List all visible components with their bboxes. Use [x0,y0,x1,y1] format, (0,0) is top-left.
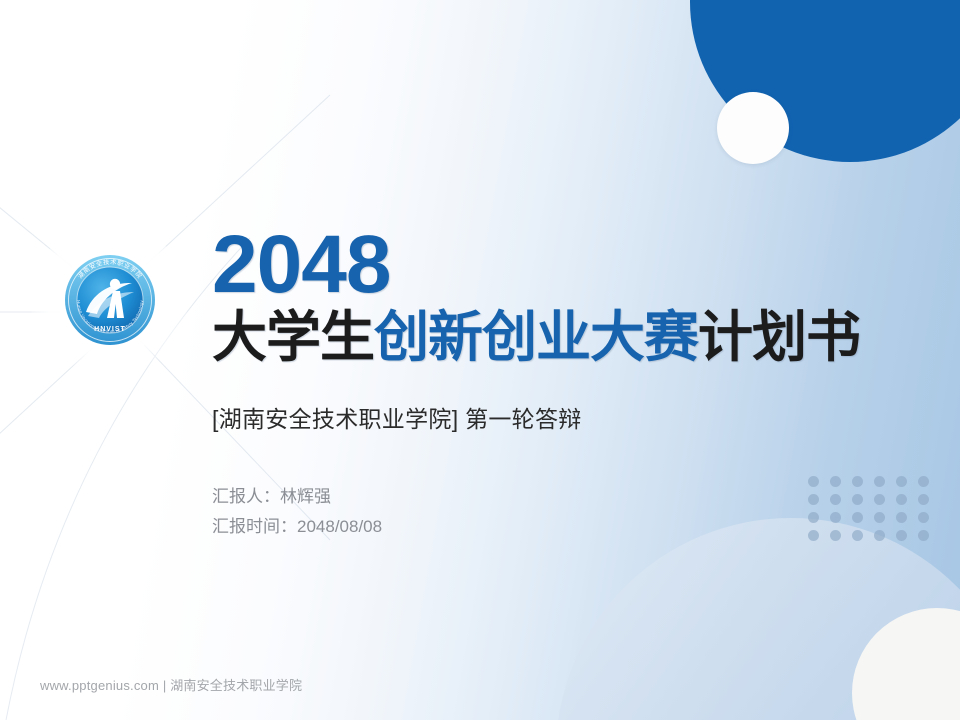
bottom-right-white-circle-decoration [852,608,960,720]
top-right-blue-circle-decoration [690,0,960,162]
headline-part-2-accent: 创新创业大赛 [374,306,698,368]
title-text-block: 2048 大学生创新创业大赛计划书 [湖南安全技术职业学院] 第一轮答辩 汇报人… [212,224,912,541]
bottom-right-pale-circle-decoration [556,518,960,720]
headline-part-3: 计划书 [698,306,860,368]
school-logo-icon: 湖南安全技术职业学院 Hunan Vocational Institute of… [58,248,162,352]
main-headline: 大学生创新创业大赛计划书 [212,308,912,366]
subtitle: [湖南安全技术职业学院] 第一轮答辩 [212,400,912,434]
presentation-meta: 汇报人：林辉强 汇报时间：2048/08/08 [212,482,912,540]
footer-credit: www.pptgenius.com | 湖南安全技术职业学院 [40,675,302,694]
presenter-line: 汇报人：林辉强 [212,482,912,511]
presentation-title-slide: 湖南安全技术职业学院 Hunan Vocational Institute of… [0,0,960,720]
top-right-white-dot-decoration [717,92,789,164]
date-line: 汇报时间：2048/08/08 [212,512,912,541]
year-heading: 2048 [212,224,912,306]
svg-text:HNVIST: HNVIST [94,326,126,333]
headline-part-1: 大学生 [212,306,374,368]
